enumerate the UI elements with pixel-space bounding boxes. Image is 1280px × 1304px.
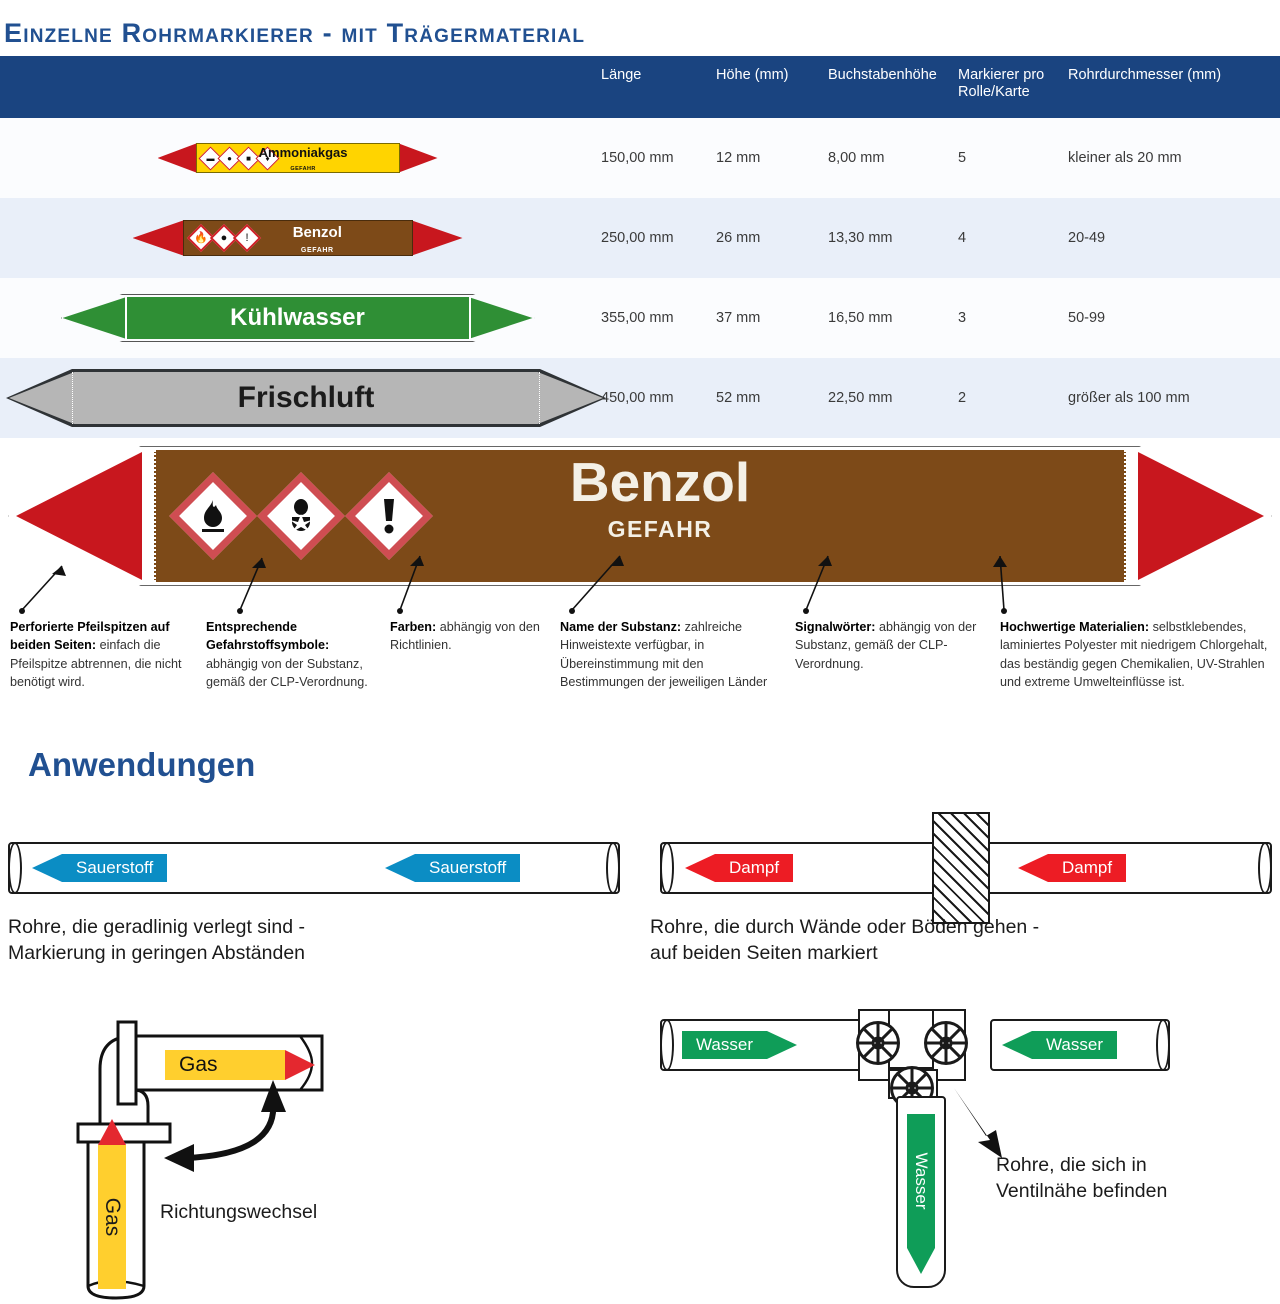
exclamation-mark-icon — [345, 472, 433, 560]
cell-laenge: 355,00 mm — [595, 278, 710, 358]
table-header-row: Länge Höhe (mm) Buchstabenhöhe Markierer… — [0, 56, 1280, 118]
caption-wall-pipes: Rohre, die durch Wände oder Böden gehen … — [650, 914, 1039, 967]
table-row: Kühlwasser 355,00 mm 37 mm 16,50 mm 3 50… — [0, 278, 1280, 358]
arrow-head-up — [98, 1119, 126, 1145]
ghs-pictogram-group: 🔥 ● ! — [191, 228, 257, 248]
caption-straight-pipes: Rohre, die geradlinig verlegt sind - Mar… — [8, 914, 305, 967]
specification-table: Länge Höhe (mm) Buchstabenhöhe Markierer… — [0, 56, 1280, 438]
exclamation-mark-icon: ! — [232, 224, 260, 252]
cell-hoehe: 26 mm — [710, 198, 822, 278]
sample-cell-benzol: 🔥 ● ! Benzol GEFAHR — [0, 198, 595, 278]
marker-label: Wasser — [911, 1153, 931, 1210]
annotation-hochwertige-materialien: Hochwertige Materialien: selbstklebendes… — [1000, 618, 1275, 691]
pipe-marker-dampf-1: Dampf — [685, 854, 793, 882]
pipe-marker-wasser-vertical: Wasser — [907, 1114, 935, 1274]
cell-markierer: 2 — [952, 358, 1062, 438]
annotation-text-row: Perforierte Pfeilspitzen auf beiden Seit… — [0, 618, 1280, 738]
column-header-laenge: Länge — [595, 56, 710, 118]
cell-laenge: 150,00 mm — [595, 118, 710, 198]
arrow-head-left — [1002, 1031, 1032, 1059]
table-row: Frischluft 450,00 mm 52 mm 22,50 mm 2 gr… — [0, 358, 1280, 438]
cell-buchstabenhoehe: 13,30 mm — [822, 198, 952, 278]
marker-label: Frischluft — [238, 381, 375, 415]
arrow-head-left — [16, 452, 142, 580]
caption-line-1: Rohre, die geradlinig verlegt sind - — [8, 914, 305, 940]
cell-markierer: 3 — [952, 278, 1062, 358]
marker-band: Dampf — [715, 854, 793, 882]
exclamation-glyph — [365, 492, 413, 540]
detail-marker-section: Benzol GEFAHR — [0, 438, 1280, 618]
column-header-markierer-pro-rolle: Markierer pro Rolle/Karte — [952, 56, 1062, 118]
sample-cell-ammoniakgas: ▬ ● ■ ♦ Ammoniakgas GEFAHR — [0, 118, 595, 198]
marker-signal-word: GEFAHR — [301, 247, 334, 254]
sample-cell-frischluft: Frischluft — [0, 358, 595, 438]
health-hazard-glyph — [277, 492, 325, 540]
marker-label: Wasser — [696, 1035, 753, 1055]
perforation-right — [539, 372, 540, 424]
caption-line-2: Ventilnähe befinden — [996, 1178, 1167, 1204]
pipe-cap-right — [1156, 1019, 1170, 1071]
column-header-buchstabenhoehe: Buchstabenhöhe — [822, 56, 952, 118]
wall-section — [932, 812, 990, 924]
annotation-title: Name der Substanz: — [560, 620, 681, 634]
health-hazard-icon — [257, 472, 345, 560]
marker-band: Sauerstoff — [62, 854, 167, 882]
annotation-title: Farben: — [390, 620, 436, 634]
pipe-marker-dampf-2: Dampf — [1018, 854, 1126, 882]
arrow-head-right — [1138, 452, 1264, 580]
pipe-marker-sauerstoff-2: Sauerstoff — [385, 854, 520, 882]
arrow-head-left — [158, 143, 198, 173]
cell-laenge: 450,00 mm — [595, 358, 710, 438]
caption-valve-pipes: Rohre, die sich in Ventilnähe befinden — [996, 1152, 1167, 1205]
annotation-farben: Farben: abhängig von den Richtlinien. — [390, 618, 550, 655]
marker-band: Kühlwasser — [125, 297, 471, 339]
marker-band: Dampf — [1048, 854, 1126, 882]
arrow-head-down — [907, 1248, 935, 1274]
cell-laenge: 250,00 mm — [595, 198, 710, 278]
annotation-title: Hochwertige Materialien: — [1000, 620, 1149, 634]
cell-hoehe: 37 mm — [710, 278, 822, 358]
applications-grid: Sauerstoff Sauerstoff Rohre, die geradli… — [0, 784, 1280, 1284]
pipe-marker-gas-vertical: Gas — [98, 1119, 126, 1289]
marker-label: Ammoniakgas — [259, 145, 348, 160]
column-header-rohrdurchmesser: Rohrdurchmesser (mm) — [1062, 56, 1280, 118]
arrow-head-left — [1018, 854, 1048, 882]
annotation-title: Entsprechende Gefahrstoffsymbole: — [206, 620, 329, 652]
column-header-hoehe: Höhe (mm) — [710, 56, 822, 118]
page-title: Einzelne Rohrmarkierer - mit Trägermater… — [0, 0, 1280, 56]
annotation-body: abhängig von der Substanz, gemäß der CLP… — [206, 657, 368, 689]
marker-label: Dampf — [1062, 858, 1112, 878]
pipe-marker-benzol: 🔥 ● ! Benzol GEFAHR — [133, 220, 463, 256]
cell-buchstabenhoehe: 16,50 mm — [822, 278, 952, 358]
arrow-head-left — [385, 854, 415, 882]
arrow-head-right — [285, 1050, 315, 1080]
annotation-gefahrstoffsymbole: Entsprechende Gefahrstoffsymbole: abhäng… — [206, 618, 374, 691]
pipe-cap-right — [1258, 842, 1272, 894]
marker-label: Sauerstoff — [429, 858, 506, 878]
pipe-marker-benzol-large: Benzol GEFAHR — [8, 446, 1272, 586]
arrow-head-left — [685, 854, 715, 882]
pipe-marker-sauerstoff-1: Sauerstoff — [32, 854, 167, 882]
pipe-cap-left — [8, 842, 22, 894]
column-header-sample — [0, 56, 595, 118]
table-row: 🔥 ● ! Benzol GEFAHR 250,00 mm 26 mm 13,3… — [0, 198, 1280, 278]
perforation-right — [1124, 450, 1126, 582]
marker-band: Sauerstoff — [415, 854, 520, 882]
arrow-head-right — [398, 143, 438, 173]
arrow-head-right — [767, 1031, 797, 1059]
marker-band: Gas — [98, 1145, 126, 1289]
pipe-marker-ammoniakgas: ▬ ● ■ ♦ Ammoniakgas GEFAHR — [158, 143, 438, 173]
marker-band: Wasser — [682, 1031, 767, 1059]
marker-label: Sauerstoff — [76, 858, 153, 878]
caption-line-1: Rohre, die sich in — [996, 1152, 1167, 1178]
annotation-perforierte-pfeilspitzen: Perforierte Pfeilspitzen auf beiden Seit… — [10, 618, 185, 691]
arrow-head-left — [32, 854, 62, 882]
cell-hoehe: 52 mm — [710, 358, 822, 438]
direction-change-arrow — [128, 1072, 288, 1192]
cell-rohrdurchmesser: 50-99 — [1062, 278, 1280, 358]
table-header: Länge Höhe (mm) Buchstabenhöhe Markierer… — [0, 56, 1280, 118]
marker-band: Wasser — [907, 1114, 935, 1248]
caption-direction-change: Richtungswechsel — [160, 1199, 317, 1225]
marker-band: Frischluft — [9, 372, 603, 424]
flame-icon — [169, 472, 257, 560]
pipe-cap-left — [660, 1019, 674, 1071]
caption-line-2: auf beiden Seiten markiert — [650, 940, 1039, 966]
pipe-marker-kuehlwasser: Kühlwasser — [63, 296, 533, 340]
pipe-marker-wasser-right: Wasser — [1002, 1031, 1117, 1059]
marker-label: Dampf — [729, 858, 779, 878]
marker-band: Wasser — [1032, 1031, 1117, 1059]
cell-markierer: 5 — [952, 118, 1062, 198]
flame-glyph — [189, 492, 237, 540]
sample-cell-kuehlwasser: Kühlwasser — [0, 278, 595, 358]
cell-buchstabenhoehe: 8,00 mm — [822, 118, 952, 198]
pipe-cap-right — [606, 842, 620, 894]
arrow-head-right — [469, 297, 533, 339]
annotation-title: Signalwörter: — [795, 620, 875, 634]
cell-rohrdurchmesser: kleiner als 20 mm — [1062, 118, 1280, 198]
cell-buchstabenhoehe: 22,50 mm — [822, 358, 952, 438]
pipe-cap-left — [660, 842, 674, 894]
caption-line-1: Rohre, die durch Wände oder Böden gehen … — [650, 914, 1039, 940]
annotation-name-der-substanz: Name der Substanz: zahlreiche Hinweistex… — [560, 618, 775, 691]
cell-markierer: 4 — [952, 198, 1062, 278]
applications-heading: Anwendungen — [0, 738, 1280, 784]
cell-hoehe: 12 mm — [710, 118, 822, 198]
perforation-left — [154, 450, 156, 582]
marker-label: Kühlwasser — [230, 304, 365, 332]
valve-wheel-right — [924, 1021, 968, 1065]
marker-label: Benzol — [293, 224, 342, 241]
valve-wheel-left — [856, 1021, 900, 1065]
perforation-left — [72, 372, 73, 424]
cell-rohrdurchmesser: 20-49 — [1062, 198, 1280, 278]
arrow-head-left — [63, 297, 127, 339]
marker-band — [154, 450, 1126, 582]
caption-line-2: Markierung in geringen Abständen — [8, 940, 305, 966]
marker-label: Wasser — [1046, 1035, 1103, 1055]
arrow-head-left — [133, 220, 185, 256]
marker-label: Gas — [100, 1198, 124, 1237]
table-row: ▬ ● ■ ♦ Ammoniakgas GEFAHR 150,00 mm 12 … — [0, 118, 1280, 198]
marker-signal-word: GEFAHR — [290, 166, 315, 172]
ghs-pictogram-group — [182, 485, 420, 547]
pipe-marker-wasser-left: Wasser — [682, 1031, 797, 1059]
cell-rohrdurchmesser: größer als 100 mm — [1062, 358, 1280, 438]
arrow-head-right — [411, 220, 463, 256]
caption-line-1: Richtungswechsel — [160, 1199, 317, 1225]
pipe-marker-frischluft: Frischluft — [6, 369, 606, 427]
annotation-signalwoerter: Signalwörter: abhängig von der Substanz,… — [795, 618, 980, 673]
